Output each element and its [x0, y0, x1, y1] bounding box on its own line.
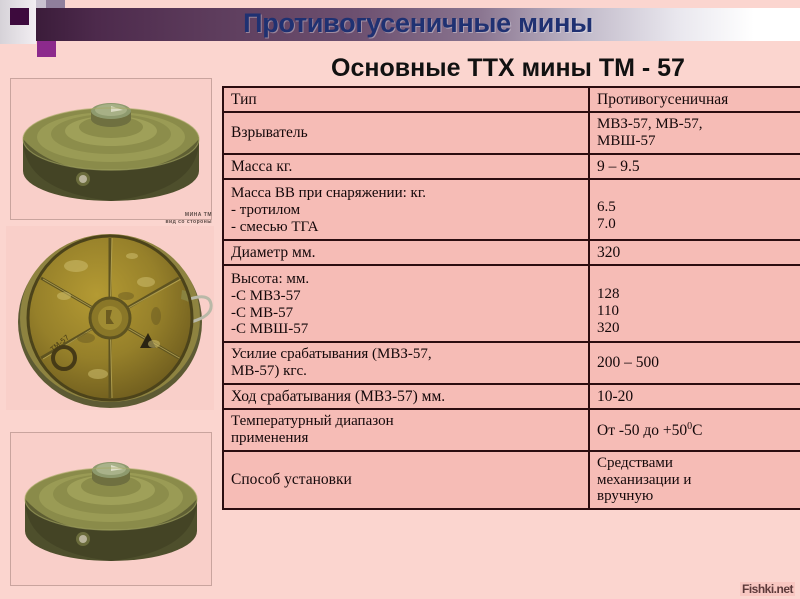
row-value-line: 128: [597, 286, 800, 303]
deco-square-2: [10, 8, 29, 25]
row-value: 10-20: [589, 384, 800, 409]
photo-caption-line2: вид со стороны: [152, 219, 212, 226]
table-row: Взрыватель МВЗ-57, МВ-57, МВШ-57: [223, 112, 800, 154]
row-value-line: вручную: [597, 488, 800, 505]
row-label: Масса ВВ при снаряжении: кг. - тротилом …: [223, 179, 589, 239]
mine-top-view-illustration: ТМ-57: [6, 226, 214, 410]
row-label-line: МВ-57) кгс.: [231, 363, 581, 380]
row-label: Усилие срабатывания (МВЗ-57, МВ-57) кгс.: [223, 342, 589, 384]
table-row: Температурный диапазон применения От -50…: [223, 409, 800, 451]
row-label-line: -С МВ-57: [231, 305, 581, 322]
row-label-line: Температурный диапазон: [231, 413, 581, 430]
row-value: Средствами механизации и вручную: [589, 451, 800, 509]
row-value-line: МВШ-57: [597, 133, 800, 150]
row-label-line: применения: [231, 430, 581, 447]
header-banner: Противогусеничные мины: [0, 0, 800, 52]
row-label-line: - смесью ТГА: [231, 219, 581, 236]
row-label: Тип: [223, 87, 589, 112]
spec-table: Тип Противогусеничная Взрыватель МВЗ-57,…: [222, 86, 800, 510]
table-row: Усилие срабатывания (МВЗ-57, МВ-57) кгс.…: [223, 342, 800, 384]
photo-mine-side-view-bottom: [10, 432, 212, 586]
table-row: Способ установки Средствами механизации …: [223, 451, 800, 509]
row-label-line: Высота: мм.: [231, 271, 581, 288]
photo-mine-top-view: ТМ-57: [6, 226, 214, 410]
row-label-line: -С МВШ-57: [231, 321, 581, 338]
row-value: 320: [589, 240, 800, 265]
row-value: 6.5 7.0: [589, 179, 800, 239]
row-value-line: Средствами: [597, 455, 800, 472]
row-label: Ход срабатывания (МВЗ-57) мм.: [223, 384, 589, 409]
row-value: Противогусеничная: [589, 87, 800, 112]
row-value-line: 110: [597, 303, 800, 320]
row-value-line: МВЗ-57, МВ-57,: [597, 116, 800, 133]
table-row: Ход срабатывания (МВЗ-57) мм. 10-20: [223, 384, 800, 409]
row-value-line: 7.0: [597, 216, 800, 233]
row-label: Способ установки: [223, 451, 589, 509]
row-value-line: 320: [597, 320, 800, 337]
row-value: 9 – 9.5: [589, 154, 800, 179]
table-row: Высота: мм. -С МВЗ-57 -С МВ-57 -С МВШ-57…: [223, 265, 800, 342]
table-row: Масса ВВ при снаряжении: кг. - тротилом …: [223, 179, 800, 239]
table-row: Тип Противогусеничная: [223, 87, 800, 112]
mine-side-view-top-illustration: [11, 79, 211, 219]
row-label: Взрыватель: [223, 112, 589, 154]
row-label-line: Масса ВВ при снаряжении: кг.: [231, 185, 581, 202]
photo-caption-mine-tm: МИНА ТМ вид со стороны: [152, 212, 212, 226]
row-value: 128 110 320: [589, 265, 800, 342]
photo-mine-side-view-top: [10, 78, 212, 220]
table-row: Диаметр мм. 320: [223, 240, 800, 265]
row-label: Диаметр мм.: [223, 240, 589, 265]
row-value-line: 6.5: [597, 199, 800, 216]
row-value: От -50 до +500С: [589, 409, 800, 451]
row-label-line: Усилие срабатывания (МВЗ-57,: [231, 346, 581, 363]
watermark: Fishki.net: [740, 582, 795, 596]
table-row: Масса кг. 9 – 9.5: [223, 154, 800, 179]
row-value: МВЗ-57, МВ-57, МВШ-57: [589, 112, 800, 154]
photo-caption-line1: МИНА ТМ: [152, 212, 212, 219]
banner-title: Противогусеничные мины: [36, 4, 800, 44]
row-label: Масса кг.: [223, 154, 589, 179]
row-label: Высота: мм. -С МВЗ-57 -С МВ-57 -С МВШ-57: [223, 265, 589, 342]
page-title: Основные ТТХ мины ТМ - 57: [222, 54, 794, 83]
row-value: 200 – 500: [589, 342, 800, 384]
mine-side-view-bottom-illustration: [11, 433, 211, 585]
row-value-line: механизации и: [597, 472, 800, 489]
row-label: Температурный диапазон применения: [223, 409, 589, 451]
row-label-line: -С МВЗ-57: [231, 288, 581, 305]
row-label-line: - тротилом: [231, 202, 581, 219]
